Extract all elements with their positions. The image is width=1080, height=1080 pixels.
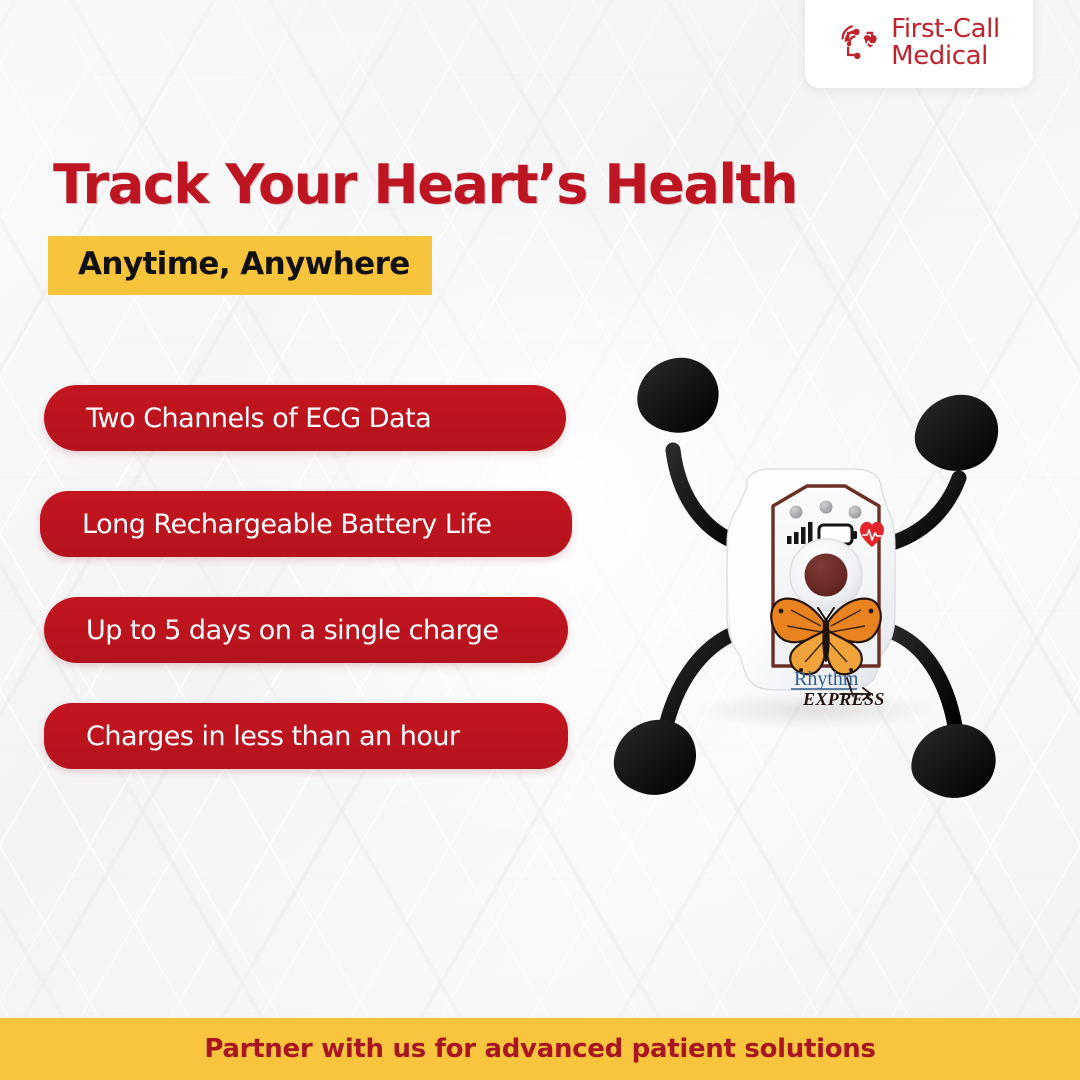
feature-pill[interactable]: Two Channels of ECG Data (44, 385, 566, 451)
brand-logo-wordmark: First-Call Medical (891, 16, 1000, 69)
electrode-pad (614, 720, 696, 795)
led-indicator (790, 506, 803, 519)
feature-pill[interactable]: Charges in less than an hour (44, 703, 568, 769)
feature-pill-label: Up to 5 days on a single charge (86, 615, 498, 646)
subtitle-badge: Anytime, Anywhere (48, 236, 432, 295)
brand-logo-line-2: Medical (891, 43, 1000, 70)
led-indicator (849, 506, 862, 519)
page-title: Track Your Heart’s Health (53, 156, 953, 213)
wifi-heart-network-icon (838, 20, 884, 66)
feature-pill-label: Two Channels of ECG Data (86, 403, 431, 434)
led-indicator (820, 501, 833, 514)
brand-logo-card[interactable]: First-Call Medical (805, 0, 1033, 88)
feature-pill-label: Charges in less than an hour (86, 721, 460, 752)
electrode-pad (911, 724, 995, 798)
device-product-image: Rhythm EXPRESS (595, 330, 1025, 830)
footer-cta-text: Partner with us for advanced patient sol… (204, 1034, 875, 1064)
feature-pill-label: Long Rechargeable Battery Life (82, 509, 492, 540)
electrode-pad (915, 395, 998, 471)
rhythm-express-monitor-svg: Rhythm EXPRESS (595, 330, 1025, 830)
footer-cta-banner[interactable]: Partner with us for advanced patient sol… (0, 1018, 1080, 1080)
electrode-pad (637, 358, 718, 433)
feature-pill[interactable]: Up to 5 days on a single charge (44, 597, 568, 663)
device-drop-shadow (690, 690, 940, 730)
feature-list: Two Channels of ECG Data Long Rechargeab… (0, 385, 600, 769)
poster-canvas: First-Call Medical Track Your Heart’s He… (0, 0, 1080, 1080)
device-button (790, 539, 862, 611)
feature-pill[interactable]: Long Rechargeable Battery Life (40, 491, 572, 557)
brand-logo-line-1: First-Call (891, 16, 1000, 43)
